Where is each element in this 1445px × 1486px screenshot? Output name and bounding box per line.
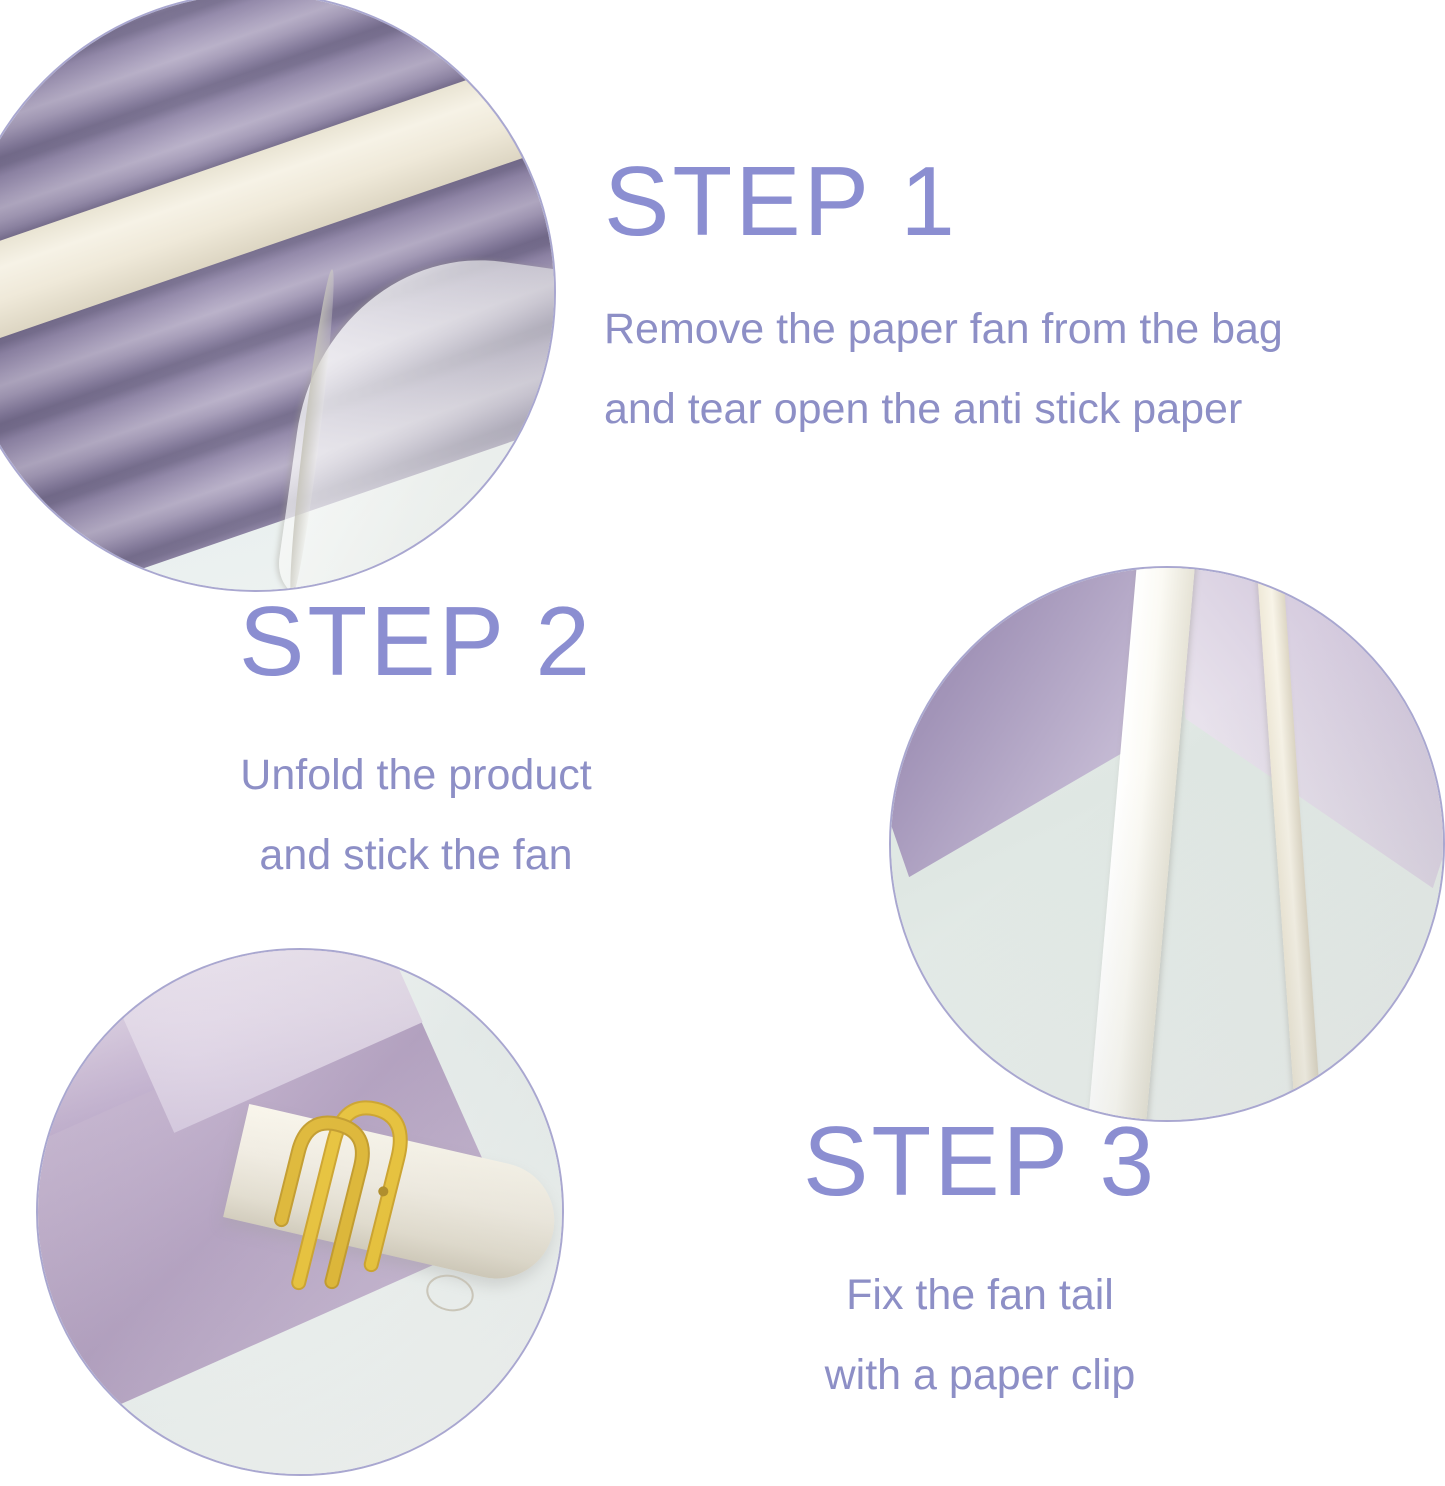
step1-photo-circle xyxy=(0,0,556,592)
step2-photo-circle xyxy=(889,566,1445,1122)
step3-heading: STEP 3 xyxy=(660,1112,1300,1210)
step2-body-line-2: and stick the fan xyxy=(96,816,736,896)
photo-shading xyxy=(891,568,1443,1120)
unfolded-fan-photo xyxy=(891,568,1443,1120)
pleated-fan-photo xyxy=(0,0,554,590)
step1-text-block: STEP 1 Remove the paper fan from the bag… xyxy=(604,152,1283,449)
photo-shading xyxy=(38,950,562,1474)
step1-body-line-2: and tear open the anti stick paper xyxy=(604,370,1283,450)
step3-photo-circle xyxy=(36,948,564,1476)
step3-text-block: STEP 3 Fix the fan tail with a paper cli… xyxy=(660,1112,1300,1415)
step1-heading: STEP 1 xyxy=(604,152,1283,250)
step2-body-line-1: Unfold the product xyxy=(96,736,736,816)
step2-heading: STEP 2 xyxy=(96,592,736,690)
step3-body-line-1: Fix the fan tail xyxy=(660,1256,1300,1336)
step1-body-line-1: Remove the paper fan from the bag xyxy=(604,290,1283,370)
step2-text-block: STEP 2 Unfold the product and stick the … xyxy=(96,592,736,895)
instruction-graphic: STEP 1 Remove the paper fan from the bag… xyxy=(0,0,1445,1486)
paper-clip-photo xyxy=(38,950,562,1474)
step3-body-line-2: with a paper clip xyxy=(660,1336,1300,1416)
